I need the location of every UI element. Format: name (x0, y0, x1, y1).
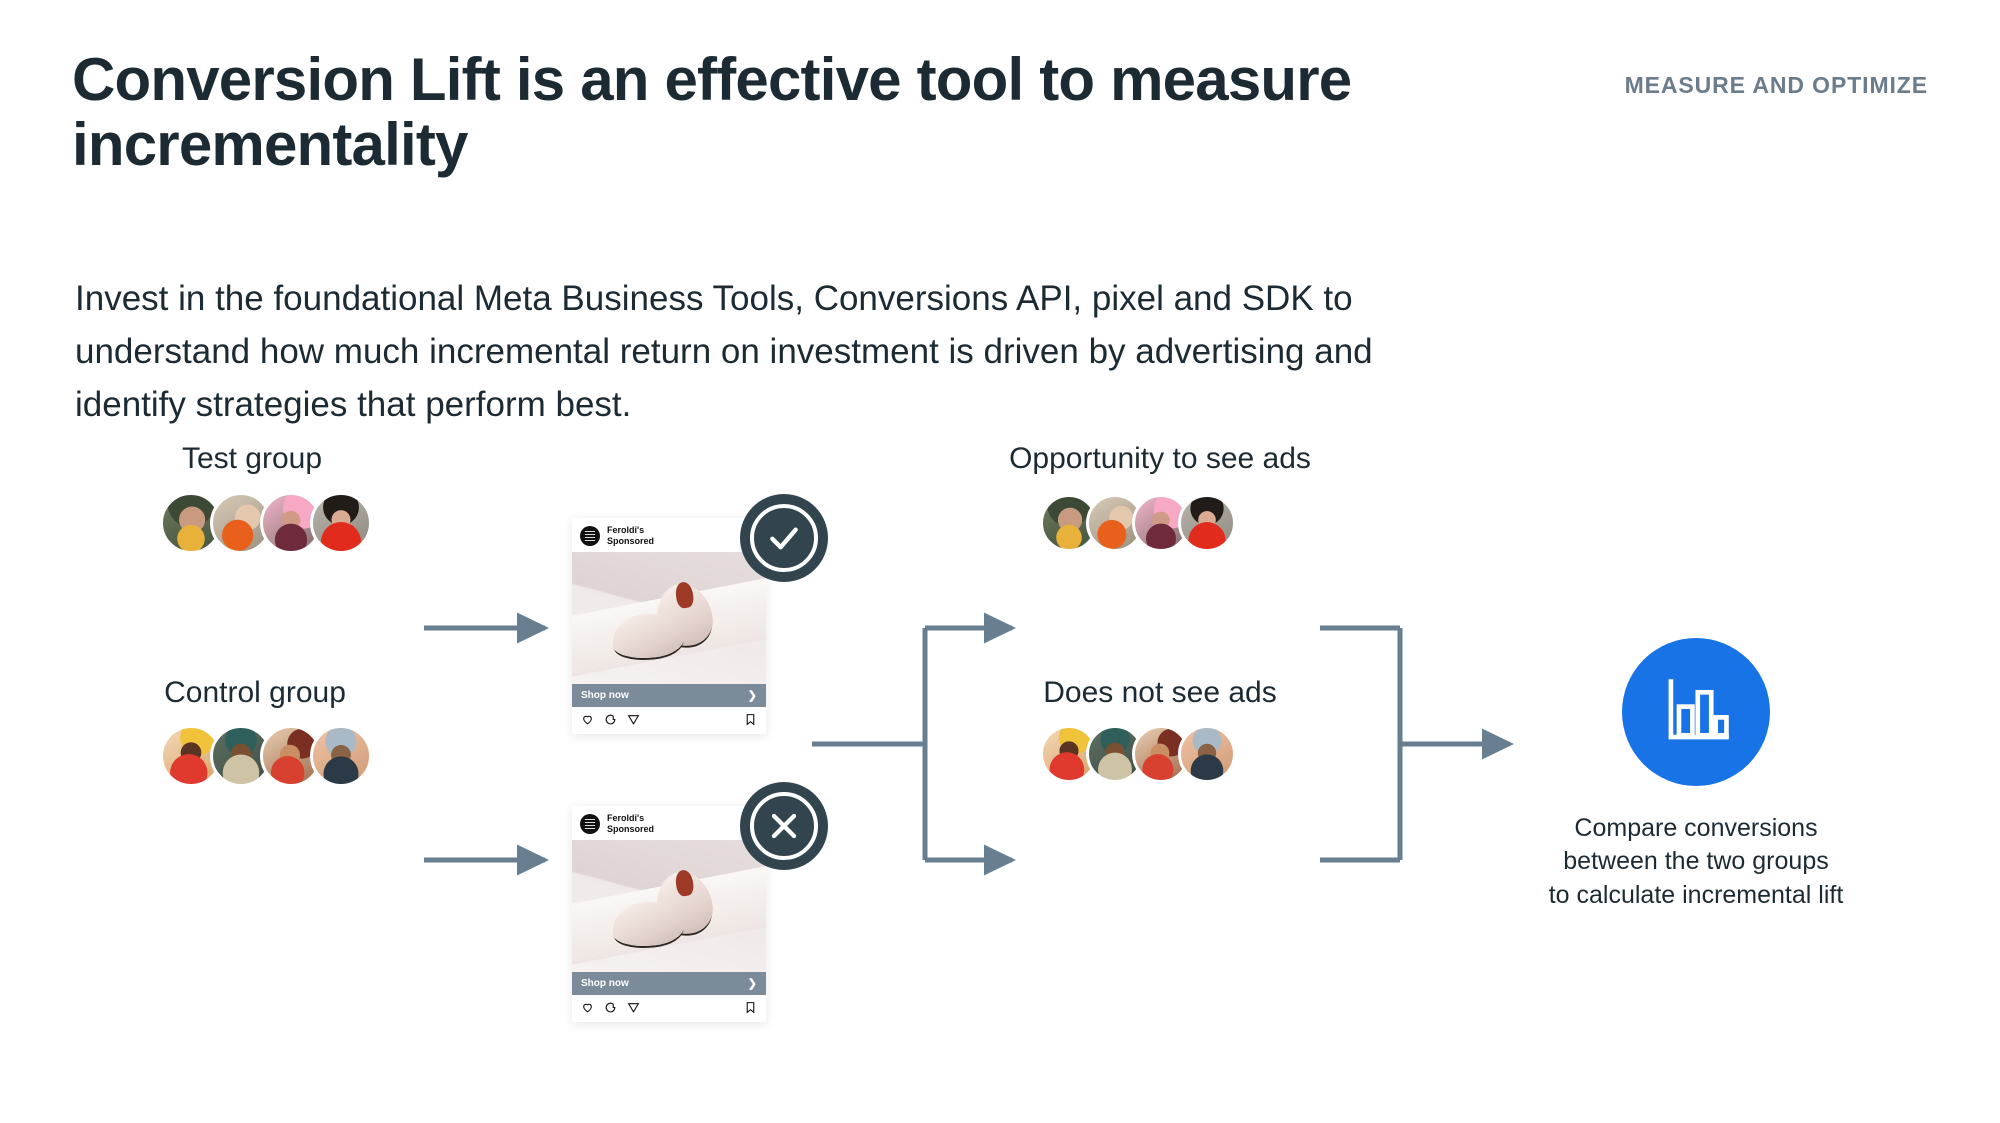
ad-header: Feroldi's Sponsored ••• (572, 806, 766, 840)
shop-now-cta[interactable]: Shop now ❯ (572, 684, 766, 707)
control-group-label: Control group (130, 676, 380, 710)
result-caption-line-1: Compare conversions (1516, 812, 1876, 845)
control-group-avatars (160, 725, 372, 787)
result-caption: Compare conversions between the two grou… (1516, 812, 1876, 912)
ad-sponsored-label: Sponsored (607, 824, 654, 835)
brand-logo-icon (580, 814, 600, 834)
page-title: Conversion Lift is an effective tool to … (72, 48, 1372, 178)
ad-product-image (572, 552, 766, 684)
connector-lines (0, 470, 2000, 1110)
share-icon[interactable] (627, 1001, 640, 1014)
bookmark-icon[interactable] (744, 713, 757, 726)
ad-brand-block: Feroldi's Sponsored (607, 813, 654, 834)
slide: Conversion Lift is an effective tool to … (0, 0, 2000, 1123)
conversion-lift-diagram: Test group Feroldi's Sponsored ••• (0, 470, 2000, 1110)
bookmark-icon[interactable] (744, 1001, 757, 1014)
brand-logo-icon (580, 526, 600, 546)
excluded-badge (740, 782, 828, 870)
share-icon[interactable] (627, 713, 640, 726)
no-ads-label: Does not see ads (1005, 676, 1315, 710)
result-caption-line-3: to calculate incremental lift (1516, 879, 1876, 912)
test-group-avatars (160, 492, 372, 554)
ad-header: Feroldi's Sponsored ••• (572, 518, 766, 552)
avatar (1178, 494, 1236, 552)
included-badge (740, 494, 828, 582)
ad-product-image (572, 840, 766, 972)
opportunity-avatars (1040, 494, 1236, 552)
opportunity-label: Opportunity to see ads (965, 442, 1355, 476)
test-group-label: Test group (152, 442, 352, 476)
result-caption-line-2: between the two groups (1516, 845, 1876, 878)
ad-sponsored-label: Sponsored (607, 536, 654, 547)
ad-brand-block: Feroldi's Sponsored (607, 525, 654, 546)
ad-card-test[interactable]: Feroldi's Sponsored ••• Shop now ❯ (572, 518, 766, 734)
cross-mark-icon (764, 806, 804, 846)
avatar (310, 725, 372, 787)
heart-icon[interactable] (581, 1001, 594, 1014)
shop-now-label: Shop now (581, 690, 629, 701)
comment-icon[interactable] (604, 1001, 617, 1014)
comment-icon[interactable] (604, 713, 617, 726)
no-ads-avatars (1040, 725, 1236, 783)
chevron-right-icon: ❯ (748, 977, 757, 990)
check-mark-icon (764, 518, 804, 558)
avatar (310, 492, 372, 554)
ad-action-bar (572, 707, 766, 734)
intro-paragraph: Invest in the foundational Meta Business… (75, 272, 1415, 432)
shop-now-cta[interactable]: Shop now ❯ (572, 972, 766, 995)
ad-brand-name: Feroldi's (607, 525, 654, 536)
ad-brand-name: Feroldi's (607, 813, 654, 824)
avatar (1178, 725, 1236, 783)
result-icon-circle (1622, 638, 1770, 786)
section-kicker: MEASURE AND OPTIMIZE (1625, 72, 1928, 99)
shop-now-label: Shop now (581, 978, 629, 989)
heart-icon[interactable] (581, 713, 594, 726)
ad-action-bar (572, 995, 766, 1022)
ad-card-control[interactable]: Feroldi's Sponsored ••• Shop now ❯ (572, 806, 766, 1022)
chevron-right-icon: ❯ (748, 689, 757, 702)
bar-chart-icon (1653, 669, 1739, 755)
